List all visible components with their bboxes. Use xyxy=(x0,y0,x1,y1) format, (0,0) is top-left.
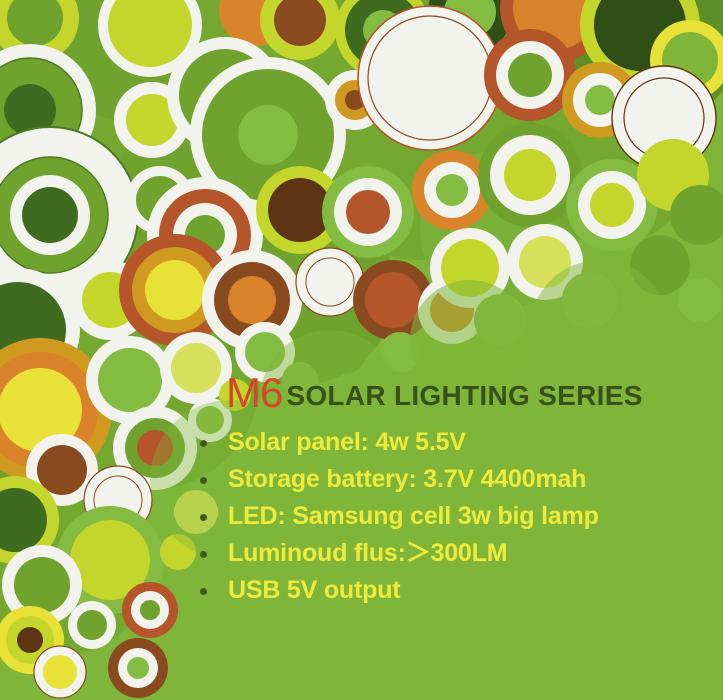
spec-label: Storage battery: 3.7V 4400mah xyxy=(228,465,586,493)
product-model-label: M6 xyxy=(226,369,282,416)
spec-label: Solar panel: 4w 5.5V xyxy=(228,428,466,456)
spec-label: Luminoud flus:＞300LM xyxy=(228,539,507,567)
product-spec-block: M6SOLAR LIGHTING SERIES Solar panel: 4w … xyxy=(196,372,716,609)
bullet-icon xyxy=(200,588,207,595)
list-item: Solar panel: 4w 5.5V xyxy=(196,424,716,461)
bullet-icon xyxy=(200,551,207,558)
spec-list: Solar panel: 4w 5.5V Storage battery: 3.… xyxy=(196,424,716,609)
poster-canvas: M6SOLAR LIGHTING SERIES Solar panel: 4w … xyxy=(0,0,723,700)
bullet-icon xyxy=(200,440,207,447)
list-item: Storage battery: 3.7V 4400mah xyxy=(196,461,716,498)
spec-label: LED: Samsung cell 3w big lamp xyxy=(228,502,599,530)
bullet-icon xyxy=(200,514,207,521)
list-item: USB 5V output xyxy=(196,572,716,609)
list-item: Luminoud flus:＞300LM xyxy=(196,535,716,572)
list-item: LED: Samsung cell 3w big lamp xyxy=(196,498,716,535)
product-series-label: SOLAR LIGHTING SERIES xyxy=(286,380,642,411)
spec-label: USB 5V output xyxy=(228,576,400,604)
bullet-icon xyxy=(200,477,207,484)
page-title: M6SOLAR LIGHTING SERIES xyxy=(226,372,716,414)
